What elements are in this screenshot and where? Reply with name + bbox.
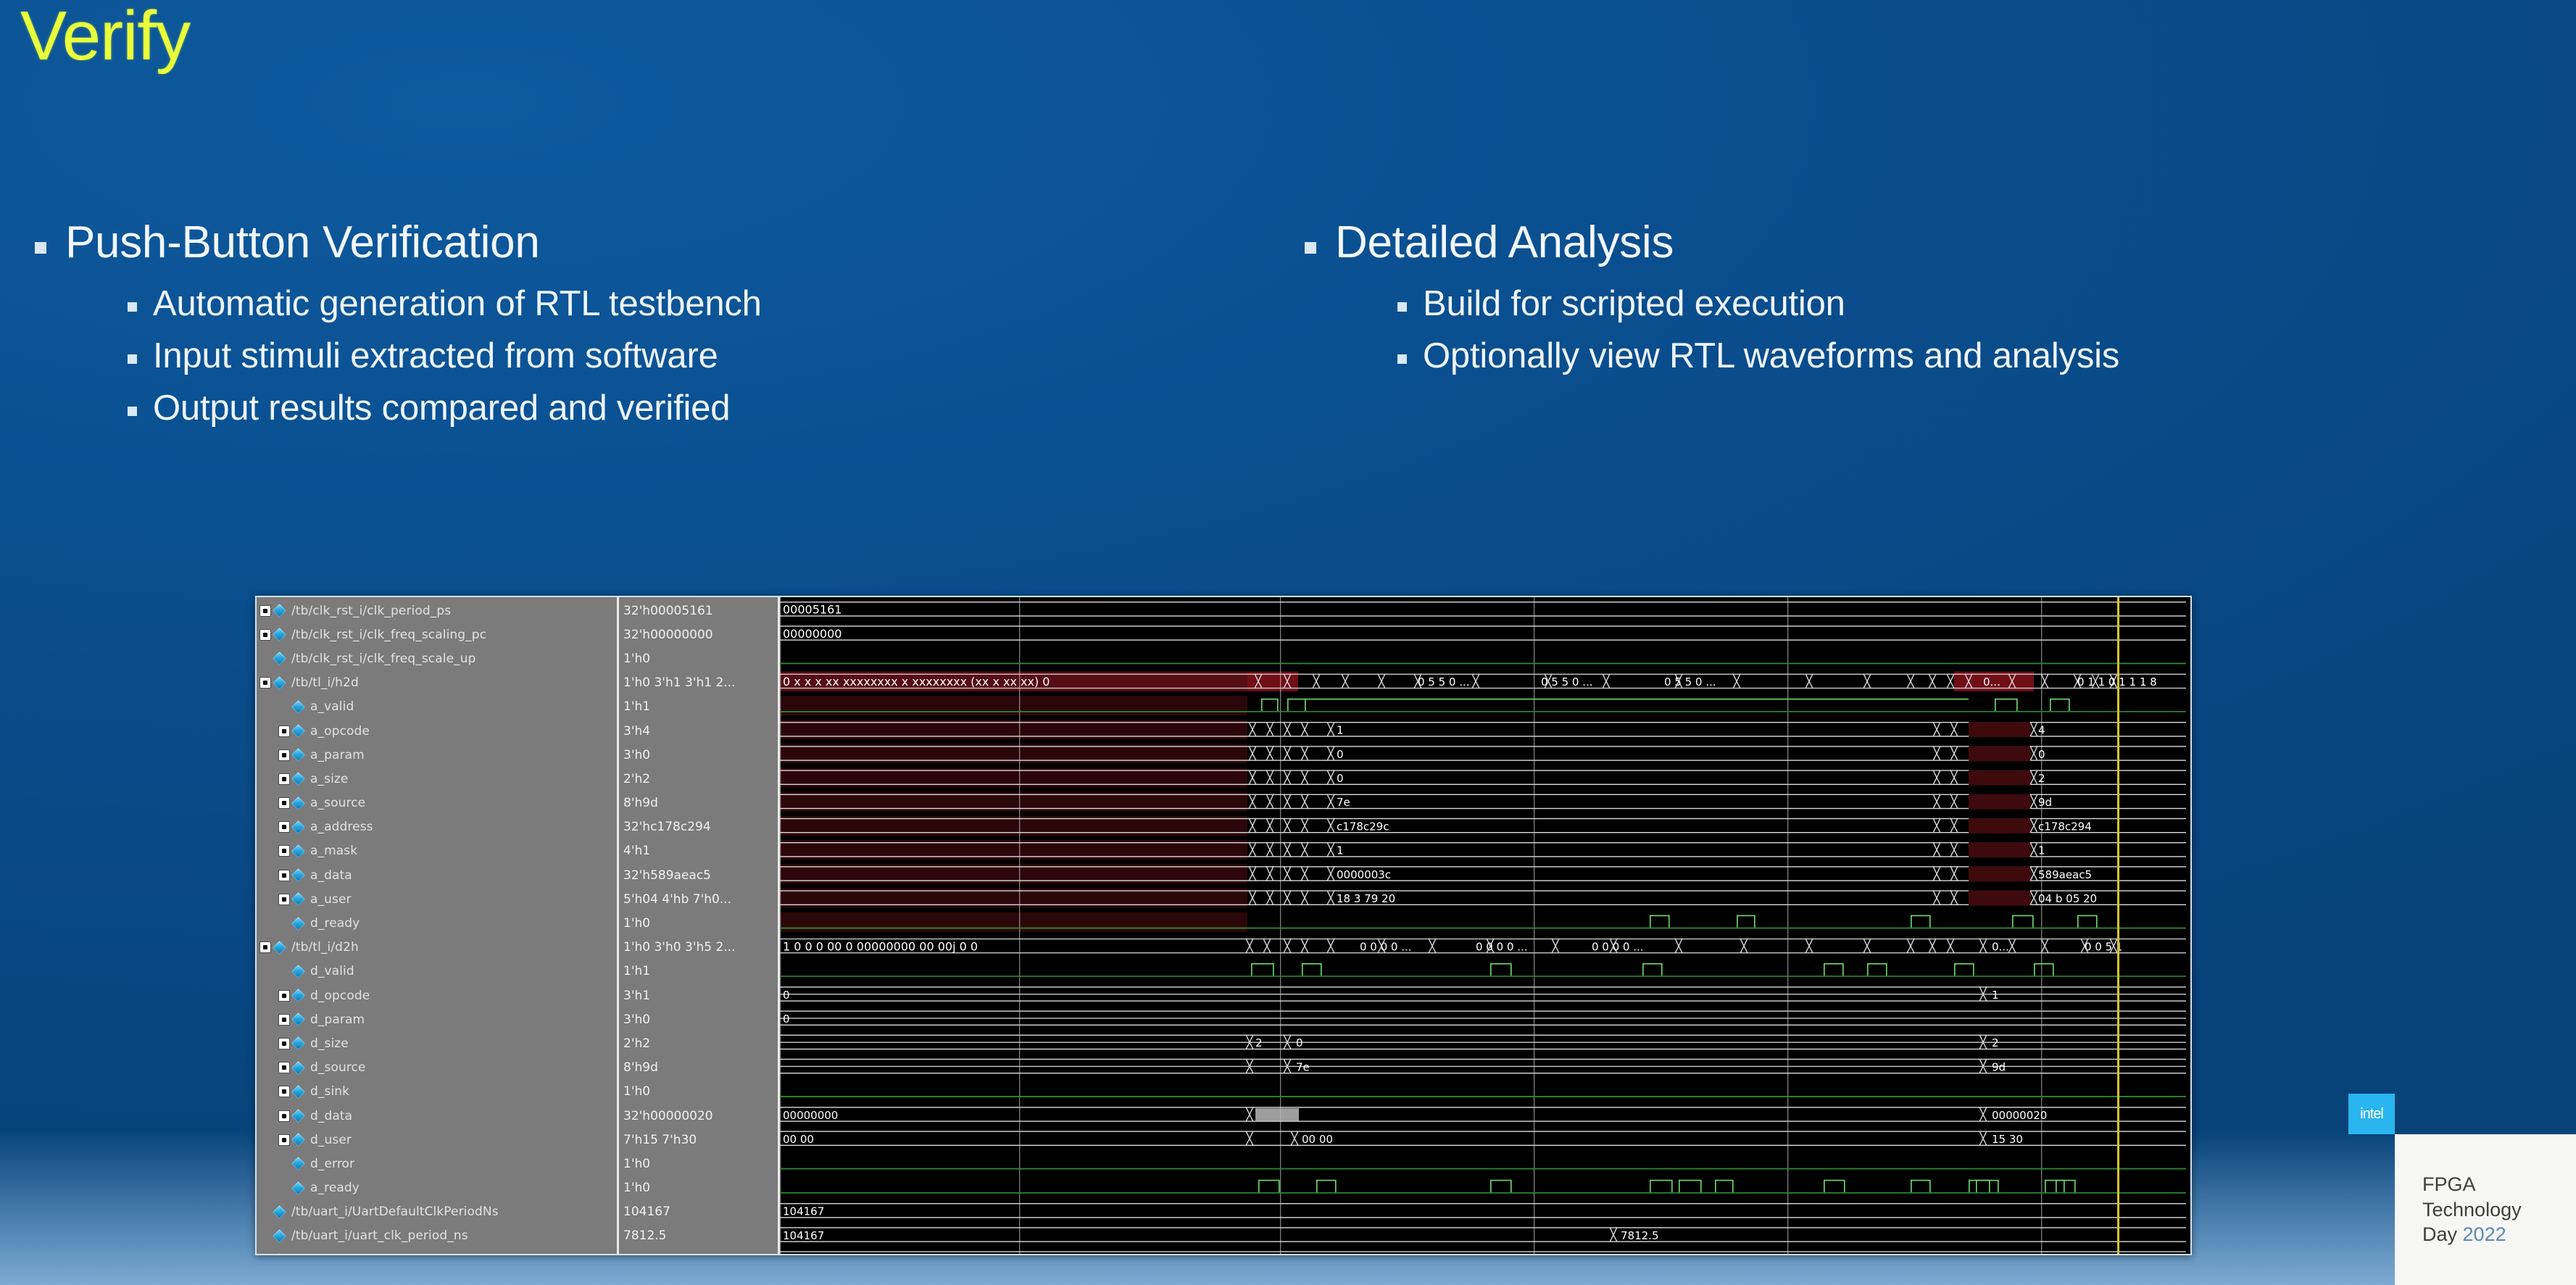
signal-name-label: a_user	[310, 892, 352, 907]
svg-text:2: 2	[1992, 1036, 1999, 1049]
svg-text:00000000: 00000000	[783, 1109, 838, 1122]
signal-name-label: d_ready	[310, 916, 360, 931]
svg-text:7e: 7e	[1337, 796, 1350, 809]
svg-text:04 b 05 20: 04 b 05 20	[2038, 892, 2097, 905]
page-title: Verify	[20, 1, 190, 71]
branding-line-1: FPGA	[2422, 1172, 2522, 1197]
expand-toggle-icon[interactable]	[278, 773, 290, 785]
expand-toggle-icon[interactable]	[259, 1255, 271, 1255]
expand-toggle-icon[interactable]	[278, 1110, 290, 1122]
svg-text:0: 0	[1337, 748, 1344, 761]
signal-value-row: 32'h589aeac5	[619, 863, 778, 887]
svg-text:1: 1	[1337, 844, 1344, 857]
bullet-heading-text: Push-Button Verification	[65, 217, 540, 267]
signal-value-label: 1'h0	[619, 1181, 650, 1195]
signal-value-label: 3'h0	[619, 1012, 650, 1027]
signal-diamond-icon	[273, 604, 286, 617]
signal-name-label: a_valid	[310, 699, 354, 714]
sub-bullet-item: Automatic generation of RTL testbench	[128, 283, 1267, 325]
signal-diamond-icon	[291, 820, 305, 834]
signal-value-row: 8'h9d	[619, 791, 778, 815]
signal-row[interactable]: /tb/clk_rst_i/clk_freq_scale_up	[257, 646, 617, 670]
signal-value-row: 8'h9d	[619, 1056, 778, 1080]
svg-text:c178c29c: c178c29c	[1337, 820, 1389, 833]
signal-value-row: 2'h2	[619, 767, 778, 791]
signal-name-label: d_sink	[310, 1084, 349, 1099]
signal-name-label: /tb/tl_i/h2d	[291, 675, 359, 690]
svg-text:00 00: 00 00	[1302, 1133, 1333, 1146]
signal-value-row: 1'h1	[619, 960, 778, 983]
slide-canvas: Verify Push-Button Verification Automati…	[0, 0, 2576, 1285]
signal-row[interactable]: a_ready	[257, 1176, 617, 1200]
sub-bullet-list-right: Build for scripted execution Optionally …	[1397, 283, 2537, 378]
branding-day-label: Day	[2422, 1223, 2463, 1245]
svg-text:0: 0	[1337, 772, 1344, 785]
expand-toggle-icon[interactable]	[278, 990, 290, 1002]
signal-diamond-icon	[291, 1109, 305, 1123]
signal-value-label: 2'h2	[619, 772, 650, 786]
signal-row[interactable]: /tb/uart_i/UartDefaultClkPeriodNs	[257, 1200, 617, 1224]
signal-value-label: 1'h0	[619, 1157, 650, 1171]
expand-spacer-icon	[278, 965, 290, 977]
signal-row[interactable]: d_user	[257, 1128, 617, 1152]
svg-text:104167: 104167	[783, 1229, 824, 1242]
svg-text:00 00: 00 00	[783, 1133, 814, 1146]
signal-diamond-icon	[273, 1253, 286, 1255]
svg-text:1: 1	[1992, 989, 1999, 1002]
svg-text:00005161: 00005161	[783, 603, 842, 617]
signal-name-label: d_source	[310, 1060, 366, 1075]
signal-row[interactable]: d_ready	[257, 911, 617, 935]
signal-row[interactable]: a_data	[257, 863, 617, 887]
sub-bullet-text: Output results compared and verified	[153, 388, 730, 430]
signal-value-label: 1'h0	[619, 1084, 650, 1099]
signal-value-label: 32'h589aeac5	[619, 868, 711, 883]
signal-value-row: 3'h1	[619, 983, 778, 1007]
signal-value-label: 3'h1	[619, 989, 650, 1003]
signal-value-row: 32'h00000000	[619, 1248, 778, 1255]
signal-diamond-icon	[291, 917, 305, 931]
signal-diamond-icon	[291, 1061, 305, 1075]
signal-name-label: d_size	[310, 1036, 349, 1051]
signal-value-row: 32'h00000020	[619, 1104, 778, 1128]
svg-text:0 0 0 0 ...: 0 0 0 0 ...	[1360, 940, 1412, 953]
signal-value-row: 104167	[619, 1200, 778, 1224]
signal-value-label: 7812.5	[619, 1228, 666, 1243]
signal-diamond-icon	[273, 941, 286, 955]
bullet-square-icon	[128, 407, 137, 416]
bullet-square-icon	[1397, 302, 1407, 312]
signal-diamond-icon	[291, 965, 305, 978]
svg-text:0 0 0 0 ...: 0 0 0 0 ...	[1476, 940, 1528, 953]
expand-toggle-icon[interactable]	[278, 725, 290, 737]
signal-value-label: 5'h04 4'hb 7'h0...	[619, 892, 731, 907]
signal-diamond-icon	[291, 1012, 305, 1026]
sub-bullet-item: Output results compared and verified	[128, 388, 1267, 430]
signal-row[interactable]: /tb/tl_i/h2d	[257, 671, 617, 695]
signal-value-label: 1'h0	[619, 652, 650, 666]
signal-value-row: 7812.5	[619, 1224, 778, 1248]
svg-text:0...: 0...	[1992, 940, 2009, 953]
signal-diamond-icon	[291, 868, 305, 882]
signal-diamond-icon	[291, 892, 305, 906]
signal-row[interactable]: d_valid	[257, 960, 617, 983]
signal-name-label: d_valid	[310, 964, 354, 978]
signal-row[interactable]: a_size	[257, 767, 617, 791]
svg-text:0 5 5 0 ...: 0 5 5 0 ...	[1418, 675, 1470, 689]
signal-row[interactable]: a_source	[257, 791, 617, 815]
signal-row[interactable]: a_address	[257, 815, 617, 839]
svg-text:1: 1	[1337, 724, 1344, 737]
signal-row[interactable]: a_param	[257, 743, 617, 767]
sub-bullet-text: Build for scripted execution	[1423, 283, 1845, 325]
signal-value-label: 1'h1	[619, 964, 650, 978]
signal-value-label: 8'h9d	[619, 1060, 658, 1075]
expand-spacer-icon	[259, 1206, 271, 1218]
signal-name-label: /tb/clk_rst_i/clk_freq_scaling_pc	[291, 628, 486, 642]
signal-diamond-icon	[291, 1157, 305, 1171]
expand-toggle-icon[interactable]	[259, 605, 271, 617]
signal-value-row: 2'h2	[619, 1031, 778, 1055]
signal-diamond-icon	[273, 1229, 286, 1243]
signal-name-label: /tb/uart_i/uart_tx_clk_pulses	[291, 1253, 466, 1255]
signal-name-label: a_address	[310, 820, 373, 834]
expand-toggle-icon[interactable]	[278, 1086, 290, 1097]
signal-value-label: 1'h1	[619, 699, 650, 714]
expand-toggle-icon[interactable]	[278, 845, 290, 857]
signal-row[interactable]: d_size	[257, 1031, 617, 1055]
expand-toggle-icon[interactable]	[278, 1038, 290, 1049]
svg-text:0: 0	[1296, 1036, 1303, 1049]
signal-diamond-icon	[291, 700, 305, 714]
signal-value-row: 32'h00000000	[619, 623, 778, 646]
svg-text:1: 1	[2038, 844, 2045, 857]
signal-row[interactable]: /tb/clk_rst_i/clk_period_ps	[257, 599, 617, 623]
signal-value-row: 3'h0	[619, 743, 778, 767]
signal-name-label: a_mask	[310, 844, 357, 858]
signal-name-label: d_error	[310, 1157, 354, 1171]
signal-row[interactable]: /tb/clk_rst_i/clk_freq_scaling_pc	[257, 623, 617, 646]
expand-spacer-icon	[259, 1230, 271, 1242]
signal-diamond-icon	[291, 989, 305, 1002]
signal-value-label: 3'h4	[619, 724, 650, 739]
svg-text:2: 2	[1255, 1036, 1263, 1049]
signal-diamond-icon	[291, 797, 305, 810]
signal-row[interactable]: d_data	[257, 1104, 617, 1128]
bullet-square-icon	[1305, 242, 1316, 254]
signal-row[interactable]: d_sink	[257, 1080, 617, 1104]
signal-name-label: a_param	[310, 748, 365, 762]
bullet-column-right: Detailed Analysis Build for scripted exe…	[1305, 217, 2537, 388]
signal-row[interactable]: a_opcode	[257, 719, 617, 743]
expand-toggle-icon[interactable]	[278, 1134, 290, 1146]
signal-name-label: /tb/uart_i/UartDefaultClkPeriodNs	[291, 1205, 499, 1219]
signal-diamond-icon	[273, 676, 286, 690]
branding-line-2: Technology	[2422, 1197, 2522, 1223]
signal-name-pane[interactable]: /tb/clk_rst_i/clk_period_ps/tb/clk_rst_i…	[257, 597, 619, 1254]
branding-text: FPGA Technology Day 2022	[2422, 1172, 2522, 1247]
signal-row[interactable]: a_user	[257, 887, 617, 911]
signal-diamond-icon	[291, 773, 305, 786]
signal-name-label: /tb/tl_i/d2h	[291, 940, 359, 955]
signal-diamond-icon	[291, 724, 305, 738]
signal-diamond-icon	[291, 748, 305, 762]
signal-value-row: 1'h0	[619, 1152, 778, 1176]
signal-row[interactable]: d_source	[257, 1056, 617, 1080]
signal-value-row: 32'h00005161	[619, 599, 778, 623]
signal-value-label: 4'h1	[619, 844, 650, 858]
signal-name-label: /tb/clk_rst_i/clk_freq_scale_up	[291, 652, 476, 666]
intel-logo-badge: intel	[2348, 1094, 2395, 1134]
expand-toggle-icon[interactable]	[259, 677, 271, 689]
svg-text:0: 0	[783, 989, 790, 1002]
expand-toggle-icon[interactable]	[278, 894, 290, 905]
svg-text:1 0 0 0 00 0 00000000 00 00j 0: 1 0 0 0 00 0 00000000 00 00j 0 0	[783, 939, 978, 953]
signal-value-row: 7'h15 7'h30	[619, 1128, 778, 1152]
svg-text:4: 4	[2038, 724, 2045, 737]
svg-text:104167: 104167	[783, 1205, 824, 1218]
sub-bullet-text: Optionally view RTL waveforms and analys…	[1423, 336, 2119, 378]
signal-value-row: 1'h0	[619, 646, 778, 670]
signal-diamond-icon	[291, 1133, 305, 1147]
expand-toggle-icon[interactable]	[259, 941, 271, 953]
signal-value-label: 104167	[619, 1205, 670, 1219]
svg-text:00000000: 00000000	[783, 627, 842, 641]
signal-row[interactable]: /tb/uart_i/uart_clk_period_ns	[257, 1224, 617, 1248]
signal-value-label: 7'h15 7'h30	[619, 1133, 697, 1147]
signal-value-row: 32'hc178c294	[619, 815, 778, 839]
expand-toggle-icon[interactable]	[278, 870, 290, 881]
signal-name-label: d_param	[310, 1012, 365, 1027]
signal-value-label: 32'hc178c294	[619, 820, 711, 834]
bullet-heading-detailed-analysis: Detailed Analysis	[1305, 217, 2537, 267]
expand-toggle-icon[interactable]	[259, 629, 271, 641]
signal-diamond-icon	[291, 1181, 305, 1195]
expand-toggle-icon[interactable]	[278, 1014, 290, 1026]
signal-diamond-icon	[273, 1205, 286, 1219]
svg-text:0 5 5 0 ...: 0 5 5 0 ...	[1541, 675, 1593, 689]
branding-year: 2022	[2463, 1223, 2506, 1245]
signal-row[interactable]: d_opcode	[257, 983, 617, 1007]
bullet-square-icon	[128, 302, 137, 312]
signal-value-row: 3'h0	[619, 1007, 778, 1031]
signal-row[interactable]: a_valid	[257, 695, 617, 719]
signal-diamond-icon	[273, 628, 286, 641]
signal-diamond-icon	[291, 1085, 305, 1099]
expand-spacer-icon	[278, 701, 290, 712]
signal-name-label: d_data	[310, 1109, 352, 1123]
svg-text:7812.5: 7812.5	[1621, 1229, 1659, 1242]
svg-text:2: 2	[2038, 772, 2045, 785]
sub-bullet-list-left: Automatic generation of RTL testbench In…	[128, 283, 1267, 429]
signal-value-label: 32'h00000000	[619, 1253, 713, 1255]
bullet-column-left: Push-Button Verification Automatic gener…	[35, 217, 1267, 440]
signal-value-row: 3'h4	[619, 719, 778, 743]
svg-text:0 0 5 1: 0 0 5 1	[2085, 940, 2122, 953]
sub-bullet-text: Input stimuli extracted from software	[153, 336, 718, 378]
svg-text:0 0 0 0 ...: 0 0 0 0 ...	[1592, 940, 1644, 953]
svg-text:00000000: 00000000	[783, 1253, 838, 1254]
signal-name-label: a_opcode	[310, 724, 370, 739]
signal-value-label: 1'h0 3'h1 3'h1 2...	[619, 675, 735, 690]
signal-name-label: /tb/clk_rst_i/clk_period_ps	[291, 604, 451, 618]
expand-spacer-icon	[278, 1158, 290, 1170]
signal-value-pane[interactable]: 32'h0000516132'h000000001'h01'h0 3'h1 3'…	[619, 597, 780, 1254]
svg-text:00000020: 00000020	[1992, 1109, 2047, 1122]
svg-text:c178c294: c178c294	[2038, 820, 2092, 833]
signal-value-row: 1'h1	[619, 695, 778, 719]
svg-text:0000003c: 0000003c	[1337, 868, 1391, 881]
waveform-viewer-image: /tb/clk_rst_i/clk_period_ps/tb/clk_rst_i…	[255, 596, 2192, 1255]
branding-line-3: Day 2022	[2422, 1222, 2522, 1247]
signal-row[interactable]: /tb/uart_i/uart_tx_clk_pulses	[257, 1248, 617, 1255]
signal-value-label: 8'h9d	[619, 796, 658, 810]
expand-toggle-icon[interactable]	[278, 821, 290, 833]
sub-bullet-item: Optionally view RTL waveforms and analys…	[1397, 336, 2537, 378]
expand-toggle-icon[interactable]	[278, 797, 290, 809]
expand-spacer-icon	[278, 918, 290, 929]
bullet-heading-text: Detailed Analysis	[1335, 217, 1674, 267]
signal-value-row: 1'h0	[619, 1080, 778, 1104]
bullet-square-icon	[35, 242, 46, 254]
signal-name-label: a_size	[310, 772, 348, 786]
expand-spacer-icon	[259, 653, 271, 665]
signal-value-label: 2'h2	[619, 1036, 650, 1051]
signal-name-label: d_opcode	[310, 989, 370, 1003]
signal-value-row: 1'h0	[619, 1176, 778, 1200]
signal-value-row: 4'h1	[619, 839, 778, 863]
signal-row[interactable]: a_mask	[257, 839, 617, 863]
expand-toggle-icon[interactable]	[278, 1062, 290, 1073]
signal-name-label: d_user	[310, 1133, 352, 1147]
svg-text:589aeac5: 589aeac5	[2038, 868, 2092, 881]
svg-text:0...: 0...	[1983, 675, 2000, 689]
expand-spacer-icon	[278, 1182, 290, 1194]
signal-value-label: 32'h00000020	[619, 1109, 713, 1123]
sub-bullet-item: Build for scripted execution	[1397, 283, 2537, 325]
signal-diamond-icon	[273, 652, 286, 666]
bullet-square-icon	[128, 354, 137, 364]
intel-logo-text: intel	[2360, 1106, 2383, 1123]
svg-text:9d: 9d	[2038, 796, 2052, 809]
waveform-canvas-pane[interactable]: 00005161000000000 x x x xx xxxxxxxx x xx…	[780, 597, 2190, 1254]
svg-text:0 1 1 0 1 1 1 8: 0 1 1 0 1 1 1 8	[2077, 675, 2157, 689]
signal-row[interactable]: d_param	[257, 1007, 617, 1031]
signal-value-label: 1'h0	[619, 916, 650, 931]
signal-value-label: 32'h00000000	[619, 628, 713, 642]
signal-name-label: a_ready	[310, 1181, 360, 1195]
bullet-square-icon	[1397, 354, 1407, 364]
svg-text:0 x x x xx xxxxxxxx x xxxxxxxx: 0 x x x xx xxxxxxxx x xxxxxxxx (xx x xx …	[783, 675, 1050, 689]
signal-value-label: 1'h0 3'h0 3'h5 2...	[619, 940, 735, 955]
signal-value-row: 1'h0	[619, 911, 778, 935]
expand-toggle-icon[interactable]	[278, 749, 290, 761]
signal-name-label: /tb/uart_i/uart_clk_period_ns	[291, 1228, 468, 1243]
signal-diamond-icon	[291, 844, 305, 858]
signal-value-label: 32'h00005161	[619, 604, 713, 618]
signal-value-row: 1'h0 3'h0 3'h5 2...	[619, 936, 778, 960]
signal-value-row: 5'h04 4'hb 7'h0...	[619, 887, 778, 911]
svg-text:15 30: 15 30	[1992, 1133, 2023, 1146]
signal-value-label: 3'h0	[619, 748, 650, 762]
signal-name-label: a_data	[310, 868, 352, 883]
signal-row[interactable]: /tb/tl_i/d2h	[257, 936, 617, 960]
svg-text:7e: 7e	[1296, 1060, 1310, 1073]
svg-text:0: 0	[783, 1012, 790, 1026]
signal-name-label: a_source	[310, 796, 365, 810]
signal-diamond-icon	[291, 1037, 305, 1051]
svg-text:0 5 5 0 ...: 0 5 5 0 ...	[1664, 675, 1716, 689]
sub-bullet-item: Input stimuli extracted from software	[128, 336, 1267, 378]
signal-row[interactable]: d_error	[257, 1152, 617, 1176]
svg-text:0: 0	[2038, 748, 2045, 761]
svg-text:18 3 79 20: 18 3 79 20	[1337, 892, 1395, 905]
sub-bullet-text: Automatic generation of RTL testbench	[153, 283, 762, 325]
svg-text:9d: 9d	[1992, 1060, 2006, 1073]
bullet-heading-push-button: Push-Button Verification	[35, 217, 1267, 267]
branding-card: FPGA Technology Day 2022	[2395, 1134, 2576, 1285]
waveform-traces: 00005161000000000 x x x xx xxxxxxxx x xx…	[780, 597, 2186, 1254]
signal-value-row: 1'h0 3'h1 3'h1 2...	[619, 671, 778, 695]
